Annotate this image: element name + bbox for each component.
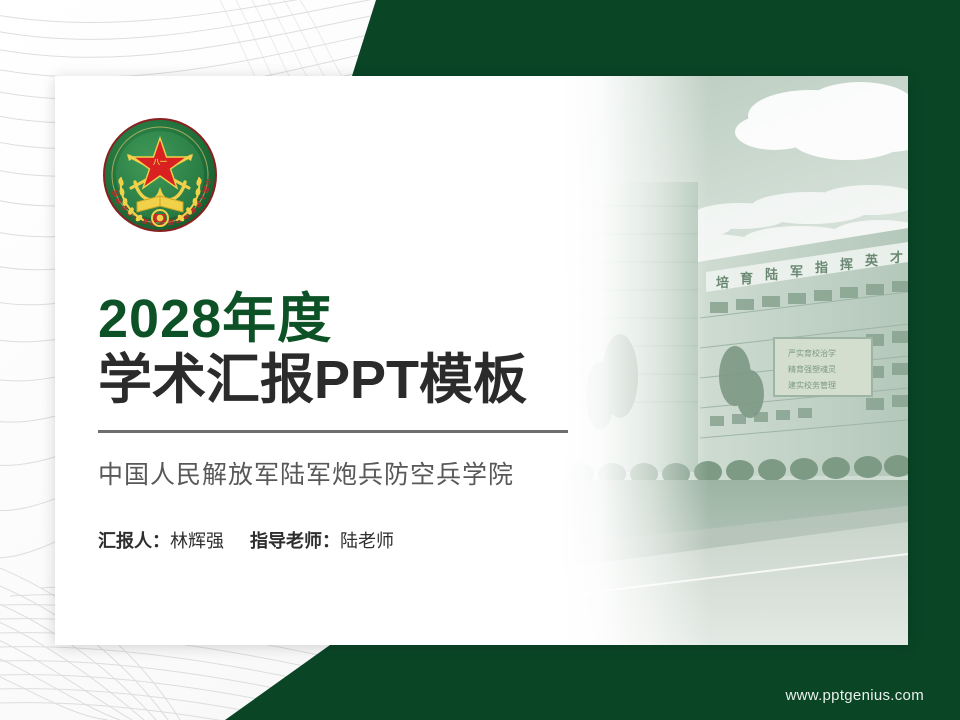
svg-text:指: 指 <box>815 260 828 276</box>
svg-text:才: 才 <box>890 250 903 266</box>
svg-text:英: 英 <box>864 253 879 269</box>
advisor-name: 陆老师 <box>340 531 394 551</box>
presenter-label: 汇报人： <box>98 531 170 551</box>
presenter-row: 汇报人：林辉强指导老师：陆老师 <box>98 527 618 553</box>
svg-text:建实校务管理: 建实校务管理 <box>788 380 836 390</box>
title-main: 学术汇报PPT模板 <box>98 352 618 409</box>
title-text-block: 2028年度 学术汇报PPT模板 中国人民解放军陆军炮兵防空兵学院 汇报人：林辉… <box>98 291 618 553</box>
svg-text:精育强塑魂灵: 精育强塑魂灵 <box>788 364 836 374</box>
advisor-label: 指导老师： <box>250 531 340 551</box>
content-card: 培 育 陆 军 指 挥 英 才 <box>55 76 908 645</box>
svg-text:挥: 挥 <box>840 257 853 273</box>
title-year: 2028年度 <box>98 291 618 348</box>
svg-text:军: 军 <box>790 265 803 280</box>
svg-text:育: 育 <box>740 271 753 287</box>
title-divider <box>98 430 568 433</box>
svg-text:陆: 陆 <box>765 267 778 283</box>
svg-text:八一: 八一 <box>152 158 167 166</box>
presentation-title-slide: 培 育 陆 军 指 挥 英 才 <box>0 0 960 720</box>
svg-text:培: 培 <box>716 275 729 291</box>
svg-text:严实育校治学: 严实育校治学 <box>788 348 836 358</box>
academy-emblem: 中国人民解放军陆军炮兵防空兵学院 八一 <box>101 116 219 234</box>
footer-website-url[interactable]: www.pptgenius.com <box>786 687 925 704</box>
presenter-name: 林辉强 <box>170 531 224 551</box>
institution-subtitle: 中国人民解放军陆军炮兵防空兵学院 <box>98 455 618 491</box>
